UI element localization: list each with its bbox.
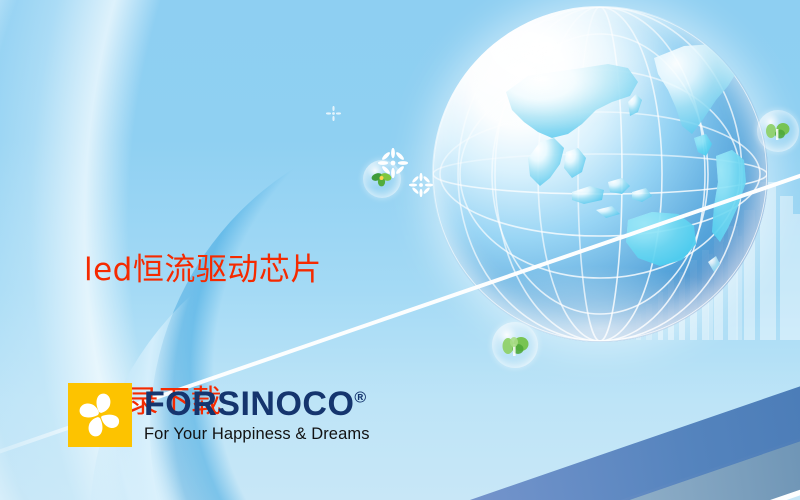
- logo-wordmark-text: FORSINOCO: [144, 385, 354, 423]
- globe-rim: [432, 6, 768, 342]
- logo-wordmark: FORSINOCO®: [144, 387, 370, 421]
- bubble-tree-icon: [492, 322, 538, 368]
- globe-sphere: [432, 6, 768, 342]
- headline-line-1: led恒流驱动芯片: [84, 248, 414, 292]
- earth-globe-icon: [432, 6, 768, 342]
- registered-trademark-icon: ®: [354, 390, 366, 407]
- globe-continents: [432, 6, 768, 342]
- bubble-tree-icon: [757, 110, 799, 152]
- brand-logo: FORSINOCO® For Your Happiness & Dreams: [68, 383, 370, 447]
- page-title: led恒流驱动芯片 目录下载: [84, 160, 414, 500]
- pinwheel-clover-icon: [68, 383, 132, 447]
- decorative-band: [463, 375, 800, 500]
- promo-banner: led恒流驱动芯片 目录下载 FORSINOCO® For Your Happi…: [0, 0, 800, 500]
- logo-tagline: For Your Happiness & Dreams: [144, 426, 370, 443]
- starburst-flower-icon: [326, 106, 341, 121]
- city-skyline-icon: [610, 180, 800, 340]
- globe-gloss: [432, 6, 768, 342]
- logo-text-block: FORSINOCO® For Your Happiness & Dreams: [144, 387, 370, 443]
